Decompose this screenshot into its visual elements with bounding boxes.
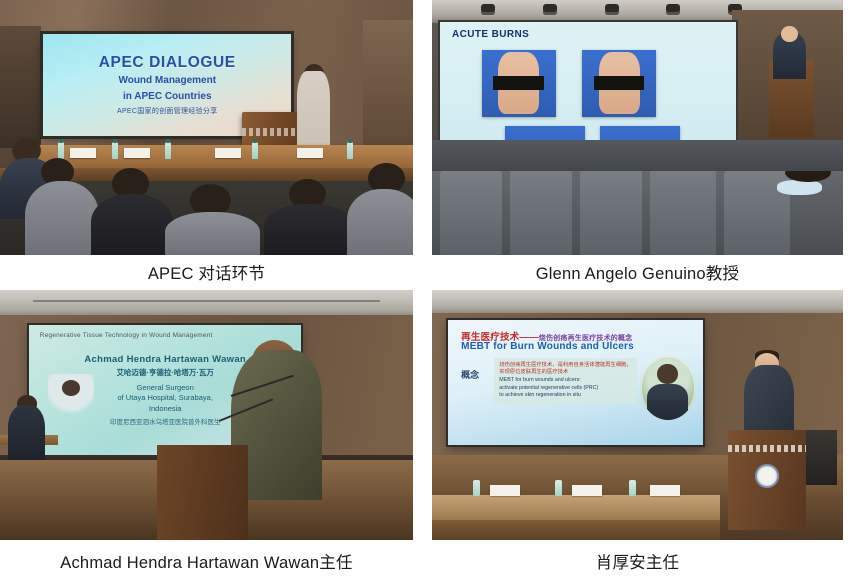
side-wall: [363, 20, 413, 153]
photo-gallery: APEC DIALOGUE Wound Management in APEC C…: [0, 0, 850, 582]
slide-title-english: MEBT for Burn Wounds and Ulcers: [461, 341, 634, 352]
water-bottle: [555, 480, 562, 496]
photo-apec-dialogue[interactable]: APEC DIALOGUE Wound Management in APEC C…: [0, 0, 413, 255]
podium-inscription: [728, 445, 806, 452]
ceiling-spotlight: [605, 4, 619, 15]
slide-role-chinese: 印度尼西亚泗水乌塔亚医院普外科医生: [110, 416, 221, 426]
water-bottle: [629, 480, 636, 496]
gallery-item-glenn-genuino: ACUTE BURNS: [432, 0, 843, 290]
water-bottle: [347, 142, 353, 159]
caption-glenn-genuino: Glenn Angelo Genuino教授: [432, 255, 843, 290]
speaker-body: [744, 365, 793, 440]
water-bottle: [58, 142, 64, 159]
gallery-item-xiao-houan: 再生医疗技术——烧伤创疡再生医疗技术的概念 MEBT for Burn Woun…: [432, 290, 843, 582]
slide-body: 烧伤创疡再生医疗技术，是利用自身活体潜能再生细胞，实现原位皮肤再生的医疗技术 M…: [494, 358, 637, 404]
water-bottle: [473, 480, 480, 496]
gallery-item-achmad-hendra: Regenerative Tissue Technology in Wound …: [0, 290, 413, 582]
water-bottle: [112, 142, 118, 159]
slide-subtitle-line2: in APEC Countries: [123, 91, 212, 104]
front-table: [432, 495, 720, 520]
attendee-body: [91, 194, 174, 255]
auditorium-seat: [440, 167, 502, 255]
slide-header: Regenerative Tissue Technology in Wound …: [40, 332, 291, 339]
slide-body-english-2: activate potential regenerative cells (P…: [499, 385, 632, 393]
ceiling-spotlight: [481, 4, 495, 15]
auditorium-seat: [510, 163, 572, 255]
slide-subtitle-line1: Wound Management: [118, 75, 216, 88]
ceiling-slot: [33, 300, 380, 302]
attendee-body: [25, 181, 99, 255]
gallery-item-apec-dialogue: APEC DIALOGUE Wound Management in APEC C…: [0, 0, 413, 290]
slide-title: ACUTE BURNS: [452, 29, 529, 40]
water-bottle: [252, 142, 258, 159]
projection-screen: 再生医疗技术——烧伤创疡再生医疗技术的概念 MEBT for Burn Woun…: [448, 320, 703, 445]
auditorium-seat: [580, 165, 642, 255]
slide-title: APEC DIALOGUE: [99, 54, 236, 72]
face-mask: [777, 180, 822, 195]
seated-attendee-body: [8, 405, 45, 460]
name-card: [650, 485, 680, 496]
name-card: [215, 148, 241, 158]
attendee-body: [264, 204, 355, 255]
podium: [157, 445, 248, 540]
name-card: [70, 148, 96, 158]
caption-apec-dialogue: APEC 对话环节: [0, 255, 413, 290]
slide-speaker-name: Achmad Hendra Hartawan Wawan: [84, 354, 246, 365]
speaker-head: [781, 26, 797, 43]
attendee-body: [347, 189, 413, 255]
slide-portrait: [48, 374, 94, 418]
caption-achmad-hendra: Achmad Hendra Hartawan Wawan主任: [0, 540, 413, 582]
clinical-photo: [582, 50, 656, 117]
photo-glenn-genuino[interactable]: ACUTE BURNS: [432, 0, 843, 255]
seat-row-back: [432, 140, 843, 171]
slide-portrait: [640, 355, 696, 420]
slide-badge: 概念: [461, 368, 479, 381]
auditorium-seat: [724, 167, 790, 255]
doorway: [0, 26, 41, 148]
slide-subtitle-chinese: APEC国家的创面管理经验分享: [117, 106, 218, 116]
slide-role-line2: of Utaya Hospital, Surabaya,: [117, 393, 212, 403]
caption-xiao-houan: 肖厚安主任: [432, 540, 843, 582]
ceiling-spotlight: [666, 4, 680, 15]
slide-role-line1: General Surgeon: [137, 383, 194, 393]
attendee-body: [165, 212, 260, 255]
water-bottle: [165, 142, 171, 159]
slide-body-english-3: to achieve skin regeneration in situ: [499, 392, 632, 400]
slide-role-line3: Indonesia: [149, 404, 182, 414]
name-card: [297, 148, 323, 158]
front-table-base: [432, 520, 720, 540]
slide-body-english-1: MEBT for burn wounds and ulcers:: [499, 377, 632, 385]
ceiling: [0, 290, 413, 318]
slide-speaker-name-chinese: 艾哈迈德·亨德拉·哈塔万·瓦万: [116, 367, 214, 378]
slide-body-chinese: 烧伤创疡再生医疗技术，是利用自身活体潜能再生细胞，实现原位皮肤再生的医疗技术: [499, 362, 632, 377]
clinical-photo: [482, 50, 556, 117]
ceiling: [432, 290, 843, 315]
auditorium-seat: [650, 161, 716, 255]
photo-achmad-hendra[interactable]: Regenerative Tissue Technology in Wound …: [0, 290, 413, 540]
ceiling-spotlight: [543, 4, 557, 15]
photo-xiao-houan[interactable]: 再生医疗技术——烧伤创疡再生医疗技术的概念 MEBT for Burn Woun…: [432, 290, 843, 540]
name-card: [490, 485, 520, 496]
name-card: [124, 148, 150, 158]
name-card: [572, 485, 602, 496]
